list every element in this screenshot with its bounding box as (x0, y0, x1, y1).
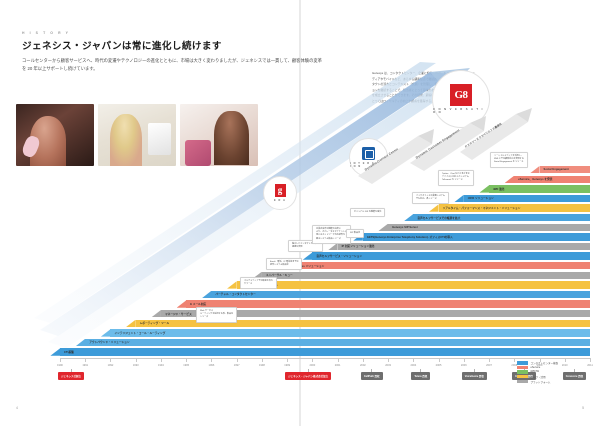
chart-bar: バーチャル・コンタクトセンター (211, 291, 590, 298)
chart-bar: アウトバウンド・ソリューション (85, 339, 590, 346)
chart-bar: eBusiness ソリューション (287, 262, 590, 269)
chart-callout: Twitter、Chat などさまざまな デバイスに対応したシステム Telko… (438, 170, 474, 186)
chart-bar-label: E メール対応 (186, 302, 206, 306)
chart-legend: コンタクトセンター基盤eServiceiWD/IWセルフ・活用プラットフォーム (517, 361, 595, 385)
chart-bar-label: アウトバウンド・ソリューション (85, 340, 129, 344)
year-tick (514, 358, 515, 362)
year-label: 2002 (360, 364, 366, 367)
year-label: 1996 (209, 364, 215, 367)
year-tick (413, 358, 414, 362)
chart-bar: E メール対応 (186, 300, 590, 307)
chart-bar-riser (101, 329, 111, 336)
chart-bar: 音声セルフサービスでの帳票を拡大 (413, 214, 590, 221)
milestone-badge: VoiceGenie 買収 (462, 372, 487, 380)
chart-bar-label: GETS(Genesys Enterprise Telephony Soluti… (363, 235, 453, 239)
chart-callout: SIP 製品化 (346, 229, 364, 238)
legend-swatch (517, 375, 528, 378)
year-label: 1998 (259, 364, 265, 367)
legend-row: iWD/IW (517, 370, 595, 373)
legend-swatch (517, 370, 528, 373)
year-tick (161, 358, 162, 362)
year-label: 2006 (461, 364, 467, 367)
chart-bar-label: eService、Genesys を発表 (514, 177, 552, 181)
chart-bar-label: Genesys SIP Server (388, 226, 418, 229)
chart-callout: ソーシャルメディアを活用し、 SNS 上での顧客対応を実現する Social E… (490, 152, 528, 168)
chart-callout: マルチメディアでの取扱を含む クラース (240, 277, 277, 289)
year-label: 1990 (57, 364, 63, 367)
legend-row: セルフ・活用 (517, 375, 595, 379)
chart-bar-label: マネージド・サービス (161, 312, 192, 316)
legend-row: コンタクトセンター基盤 (517, 361, 595, 365)
year-label: 1995 (183, 364, 189, 367)
year-label: 2003 (385, 364, 391, 367)
chart-bar-riser (505, 176, 515, 183)
chart-bar: ワークフォース・マネジメント (237, 281, 590, 288)
chart-callout: Web サービス ルーティングを採用する形、製品の シリーズ (196, 307, 237, 323)
chart-bar-label: iCFD ソリューション (464, 196, 494, 200)
legend-row: eService (517, 366, 595, 369)
year-label: 2001 (335, 364, 341, 367)
chart-bar-riser (530, 166, 540, 173)
year-tick (85, 358, 86, 362)
chart-bar-label: レポーティング・ツール (136, 321, 169, 325)
chart-bar-riser (76, 339, 86, 346)
year-label: 1999 (284, 364, 290, 367)
milestone-badge: CallPath 買収 (361, 372, 383, 380)
chart-bar-riser (151, 310, 161, 317)
chart-bar: 音声セルフサービス・ソリューション (312, 252, 590, 259)
chart-bar: iWD 強化 (489, 185, 590, 192)
year-axis (60, 358, 590, 359)
intro-paragraph: コールセンターから顧客サービスへ、時代の変遷やテクノロジーの進化とともに、市場は… (22, 57, 322, 73)
chart-bar-label: 音声セルフサービスでの帳票を拡大 (413, 216, 460, 220)
chart-bar: GETS(Genesys Enterprise Telephony Soluti… (363, 233, 590, 240)
chart-bar-label: インテリジェント・コール・ルーティング (110, 331, 165, 335)
year-tick (136, 358, 137, 362)
year-tick (262, 358, 263, 362)
year-tick (489, 358, 490, 362)
year-tick (565, 358, 566, 362)
year-label: 2004 (410, 364, 416, 367)
legend-swatch (517, 361, 528, 364)
chart-bar-riser (404, 214, 414, 221)
chart-bar-riser (454, 195, 464, 202)
legend-label: コンタクトセンター基盤 (531, 361, 559, 365)
year-label: 1991 (82, 364, 88, 367)
legend-label: セルフ・活用 (531, 375, 546, 379)
chart-bar: インテリジェント・コール・ルーティング (110, 329, 590, 336)
milestone-badge: Telera 買収 (411, 372, 430, 380)
chart-bar: eService、Genesys を発表 (514, 176, 590, 183)
year-tick (363, 358, 364, 362)
chart-bar: iCFD ソリューション (464, 195, 590, 202)
chart-bar-riser (227, 281, 237, 288)
page-number-right: 5 (582, 406, 584, 410)
chart-bar: ユニバーサル・キュー (262, 272, 590, 279)
chart-bar: リアルタイム・パフォーマンス・マネジメント・ソリューション (439, 204, 590, 211)
year-tick (388, 358, 389, 362)
year-label: 1994 (158, 364, 164, 367)
g8-mark: G8 (450, 84, 472, 106)
legend-swatch (517, 380, 528, 383)
chart-bar-label: Social Engagement (540, 168, 569, 171)
year-tick (60, 358, 61, 362)
legend-label: eService (531, 366, 541, 369)
brochure-page: H I S T O R Y ジェネシス・ジャパンは常に進化し続けます コールセン… (0, 0, 600, 426)
year-tick (338, 358, 339, 362)
chart-bar-label: CTI基盤 (60, 350, 74, 354)
legend-row: プラットフォーム (517, 380, 595, 384)
page-number-left: 4 (16, 406, 18, 410)
year-tick (110, 358, 111, 362)
year-tick (464, 358, 465, 362)
year-tick (287, 358, 288, 362)
era-badge-conversation: G8 C O N V E R S A T I O N (432, 70, 490, 128)
chart-bar-label: 音声セルフサービス・ソリューション (312, 254, 362, 258)
chart-bar-riser (202, 291, 212, 298)
chart-bar-label: バーチャル・コンタクトセンター (211, 292, 255, 296)
section-eyebrow: H I S T O R Y (22, 31, 70, 35)
chart-bar-riser (429, 204, 439, 211)
milestone-badge: ジェネシス・ジャパン株式会社設立 (285, 372, 331, 380)
year-tick (540, 358, 541, 362)
chart-bar-label: iWD 強化 (489, 187, 504, 191)
chart-callout: Email、電話、IP 電話等までの 統合システム製品化 (266, 258, 302, 270)
chart-bar-label: IP 対応ソリューション強化 (338, 244, 375, 248)
chart-callout: ビジュアル IVR の機能を強化 (350, 208, 385, 217)
year-label: 1993 (133, 364, 139, 367)
chart-callout: バックオフィスの業務システム でも対応、各シリーズ (412, 192, 449, 204)
legend-label: iWD/IW (531, 370, 539, 373)
year-tick (439, 358, 440, 362)
chart-bar: Social Engagement (540, 166, 590, 173)
milestone-badge: ジェネシス社創立 (58, 372, 84, 380)
page-title: ジェネシス・ジャパンは常に進化し続けます (22, 38, 222, 52)
year-tick (312, 358, 313, 362)
year-label: 1997 (234, 364, 240, 367)
history-timeline-chart: CTI基盤アウトバウンド・ソリューションインテリジェント・コール・ルーティングレ… (60, 150, 600, 365)
legend-label: プラットフォーム (531, 380, 551, 384)
year-label: 2007 (486, 364, 492, 367)
year-label: 2005 (436, 364, 442, 367)
chart-bar-riser (303, 252, 313, 259)
chart-bar-riser (50, 348, 60, 355)
chart-bar: CTI基盤 (60, 348, 590, 355)
chart-bar: Genesys SIP Server (388, 224, 590, 231)
year-tick (237, 358, 238, 362)
year-tick (590, 358, 591, 362)
chart-bar-riser (378, 224, 388, 231)
year-label: 1992 (108, 364, 114, 367)
era-badge-label: C O N V E R S A T I O N (433, 108, 489, 114)
legend-swatch (517, 366, 528, 369)
chart-bar-riser (479, 185, 489, 192)
chart-bar-label: リアルタイム・パフォーマンス・マネジメント・ソリューション (439, 206, 521, 210)
chart-bar: IP 対応ソリューション強化 (338, 243, 590, 250)
chart-bar-riser (177, 300, 187, 307)
year-tick (211, 358, 212, 362)
year-label: 2000 (309, 364, 315, 367)
chart-bar-riser (126, 320, 136, 327)
year-tick (186, 358, 187, 362)
